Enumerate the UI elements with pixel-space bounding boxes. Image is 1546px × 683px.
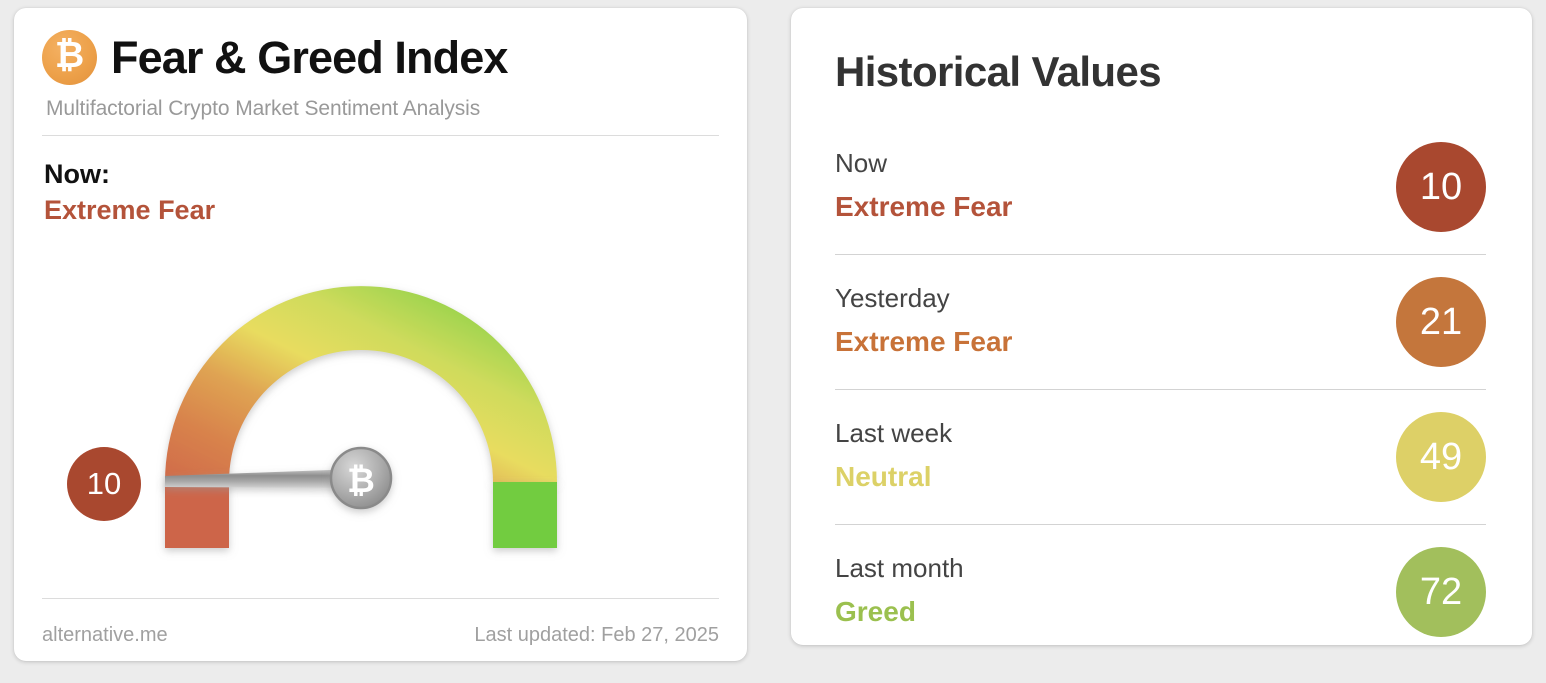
history-value-badge: 72 — [1396, 547, 1486, 637]
historical-values-title: Historical Values — [835, 48, 1486, 96]
history-classification: Extreme Fear — [835, 187, 1012, 228]
history-period: Now — [835, 146, 1012, 181]
gauge-value: 10 — [87, 466, 121, 502]
fear-greed-widget: ₿ Fear & Greed Index Multifactorial Cryp… — [0, 0, 1546, 683]
history-row-text: Last monthGreed — [835, 551, 964, 633]
history-classification: Greed — [835, 592, 964, 633]
history-period: Yesterday — [835, 281, 1012, 316]
gauge-chart: ₿ 10 — [14, 244, 747, 589]
gauge-arc: ₿ — [131, 244, 631, 589]
history-row-text: NowExtreme Fear — [835, 146, 1012, 228]
historical-values-list: NowExtreme Fear10YesterdayExtreme Fear21… — [835, 142, 1486, 659]
footer-last-updated: Last updated: Feb 27, 2025 — [474, 624, 719, 647]
history-value-badge: 10 — [1396, 142, 1486, 232]
now-classification: Extreme Fear — [44, 192, 719, 228]
history-row: Last monthGreed72 — [835, 547, 1486, 659]
history-classification: Extreme Fear — [835, 322, 1012, 363]
now-block: Now: Extreme Fear — [44, 158, 719, 228]
history-period: Last month — [835, 551, 964, 586]
page-subtitle: Multifactorial Crypto Market Sentiment A… — [46, 97, 719, 121]
gauge-card: ₿ Fear & Greed Index Multifactorial Cryp… — [14, 8, 747, 661]
page-title: Fear & Greed Index — [111, 35, 507, 80]
header-divider — [42, 135, 719, 136]
bitcoin-icon: ₿ — [42, 30, 97, 85]
history-row-text: YesterdayExtreme Fear — [835, 281, 1012, 363]
history-row-text: Last weekNeutral — [835, 416, 952, 498]
history-classification: Neutral — [835, 457, 952, 498]
history-row: YesterdayExtreme Fear21 — [835, 277, 1486, 390]
card-footer: alternative.me Last updated: Feb 27, 202… — [42, 624, 719, 647]
history-row: Last weekNeutral49 — [835, 412, 1486, 525]
footer-source[interactable]: alternative.me — [42, 624, 168, 647]
needle-bitcoin-glyph: ₿ — [347, 461, 375, 501]
footer-divider — [42, 598, 719, 599]
now-label: Now: — [44, 158, 719, 192]
history-value-badge: 49 — [1396, 412, 1486, 502]
historical-values-card: Historical Values NowExtreme Fear10Yeste… — [791, 8, 1532, 645]
card-header: ₿ Fear & Greed Index — [42, 30, 719, 85]
bitcoin-glyph: ₿ — [55, 38, 84, 74]
history-value-badge: 21 — [1396, 277, 1486, 367]
history-period: Last week — [835, 416, 952, 451]
gauge-value-badge: 10 — [67, 447, 141, 521]
history-row: NowExtreme Fear10 — [835, 142, 1486, 255]
